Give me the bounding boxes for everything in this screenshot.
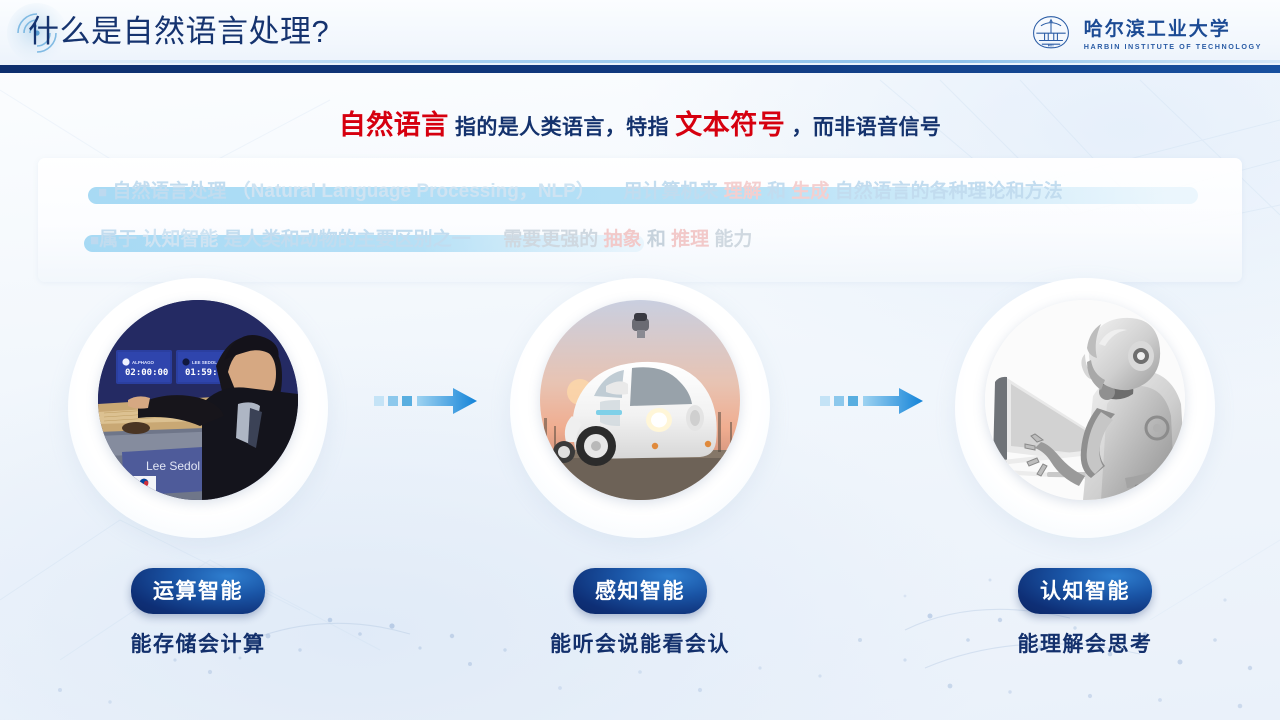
stage-label-group-1: 运算智能 能存储会计算 xyxy=(33,568,363,658)
alphago-lee-sedol-photo: ALPHAGO 02:00:00 LEE SEDOL 01:59:46 xyxy=(98,300,298,500)
stage-label-group-3: 认知智能 能理解会思考 xyxy=(920,568,1250,658)
bullet-marker-1: ■ xyxy=(98,184,107,201)
bullet2-part3: 是人类和动物的主要区别之一 xyxy=(224,229,471,250)
stage-card-2 xyxy=(510,278,770,538)
stage-pill-2[interactable]: 感知智能 xyxy=(573,568,707,614)
stage-label-group-2: 感知智能 能听会说能看会认 xyxy=(475,568,805,658)
headline: 自然语言 指的是人类语言，特指 文本符号 ，而非语音信号 xyxy=(0,103,1280,142)
stage-caption-2: 能听会说能看会认 xyxy=(475,628,805,658)
svg-text:Lee Sedol: Lee Sedol xyxy=(146,459,200,473)
stage-arrow-2 xyxy=(818,385,926,417)
university-logo: HIT 哈尔滨工业大学 HARBIN INSTITUTE OF TECHNOLO… xyxy=(1029,10,1262,60)
headline-seg-3: 文本符号 xyxy=(675,110,785,140)
bullet2-part1: 属于 xyxy=(99,229,137,250)
stage-pill-3[interactable]: 认知智能 xyxy=(1018,568,1152,614)
bullet2-abstract: 抽象 xyxy=(604,229,642,250)
bullet2-term: 认知智能 xyxy=(142,229,218,250)
bullet1-and: 和 xyxy=(767,181,786,202)
bullet-line-2: ■属于 认知智能 是人类和动物的主要区别之一 需要更强的 抽象 和 推理 能力 xyxy=(90,224,752,251)
header-glow-line xyxy=(0,60,1280,63)
svg-text:02:00:00: 02:00:00 xyxy=(125,368,168,378)
headline-seg-1: 自然语言 xyxy=(339,110,449,140)
stage-arrow-1 xyxy=(372,385,480,417)
bullet1-generate: 生成 xyxy=(791,181,829,202)
bullet1-understand: 理解 xyxy=(724,181,762,202)
svg-text:LEE SEDOL: LEE SEDOL xyxy=(192,360,217,365)
bullet2-reasoning: 推理 xyxy=(671,229,709,250)
svg-text:HIT: HIT xyxy=(1047,42,1054,47)
bullet2-and: 和 xyxy=(647,229,666,250)
logo-name-cn: 哈尔滨工业大学 xyxy=(1084,19,1262,41)
stage-caption-3: 能理解会思考 xyxy=(920,628,1250,658)
stage-caption-1: 能存储会计算 xyxy=(33,628,363,658)
logo-name-en: HARBIN INSTITUTE OF TECHNOLOGY xyxy=(1084,42,1262,51)
headline-seg-4: ，而非语音信号 xyxy=(791,116,941,139)
header-rule xyxy=(0,65,1280,73)
slide-canvas: 什么是自然语言处理? HIT 哈尔滨工业大学 HA xyxy=(0,0,1280,720)
hit-crest-icon: HIT xyxy=(1029,13,1073,57)
bullet1-term: 自然语言处理 xyxy=(112,181,226,202)
bullet1-part3: 用计算机来 xyxy=(623,181,718,202)
bullet1-tail: 自然语言的各种理论和方法 xyxy=(835,181,1063,202)
bullet-marker-2: ■ xyxy=(90,232,99,249)
bullet1-english: （Natural Language Processing，NLP） xyxy=(232,181,595,202)
stage-card-3 xyxy=(955,278,1215,538)
bullet2-part4: 需要更强的 xyxy=(503,229,598,250)
bullet-line-1: ■ 自然语言处理 （Natural Language Processing，NL… xyxy=(98,176,1063,203)
definition-panel: ■ 自然语言处理 （Natural Language Processing，NL… xyxy=(38,158,1242,282)
headline-seg-2: 指的是人类语言，特指 xyxy=(455,116,669,139)
robot-laptop-photo xyxy=(985,300,1185,500)
stage-card-1: ALPHAGO 02:00:00 LEE SEDOL 01:59:46 xyxy=(68,278,328,538)
slide-header: 什么是自然语言处理? HIT 哈尔滨工业大学 HA xyxy=(0,0,1280,72)
stage-pill-1[interactable]: 运算智能 xyxy=(131,568,265,614)
self-driving-car-photo xyxy=(540,300,740,500)
svg-text:ALPHAGO: ALPHAGO xyxy=(132,360,155,365)
page-title: 什么是自然语言处理? xyxy=(28,9,329,55)
bullet2-ability: 能力 xyxy=(714,229,752,250)
